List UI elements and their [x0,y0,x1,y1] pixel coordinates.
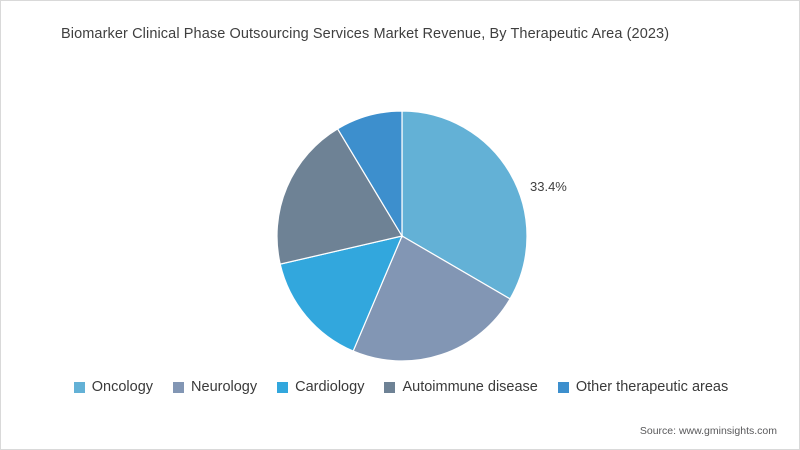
legend-item[interactable]: Cardiology [277,380,364,395]
slice-data-label-oncology: 33.4% [530,179,567,194]
legend-item-label: Other therapeutic areas [576,380,728,395]
pie-svg [1,1,800,371]
legend-item[interactable]: Other therapeutic areas [558,380,728,395]
legend-item-label: Cardiology [295,380,364,395]
legend-item[interactable]: Oncology [74,380,153,395]
source-caption: Source: www.gminsights.com [640,425,777,437]
legend-item-label: Neurology [191,380,257,395]
chart-figure: Biomarker Clinical Phase Outsourcing Ser… [0,0,800,450]
legend-swatch-icon [277,382,288,393]
legend-swatch-icon [558,382,569,393]
legend-swatch-icon [173,382,184,393]
legend-item-label: Autoimmune disease [402,380,537,395]
pie-chart: 33.4% [1,1,800,371]
pie-slice-group [277,111,527,361]
legend-item-label: Oncology [92,380,153,395]
chart-legend: OncologyNeurologyCardiologyAutoimmune di… [1,375,800,399]
legend-item[interactable]: Neurology [173,380,257,395]
legend-item[interactable]: Autoimmune disease [384,380,537,395]
legend-swatch-icon [74,382,85,393]
legend-swatch-icon [384,382,395,393]
